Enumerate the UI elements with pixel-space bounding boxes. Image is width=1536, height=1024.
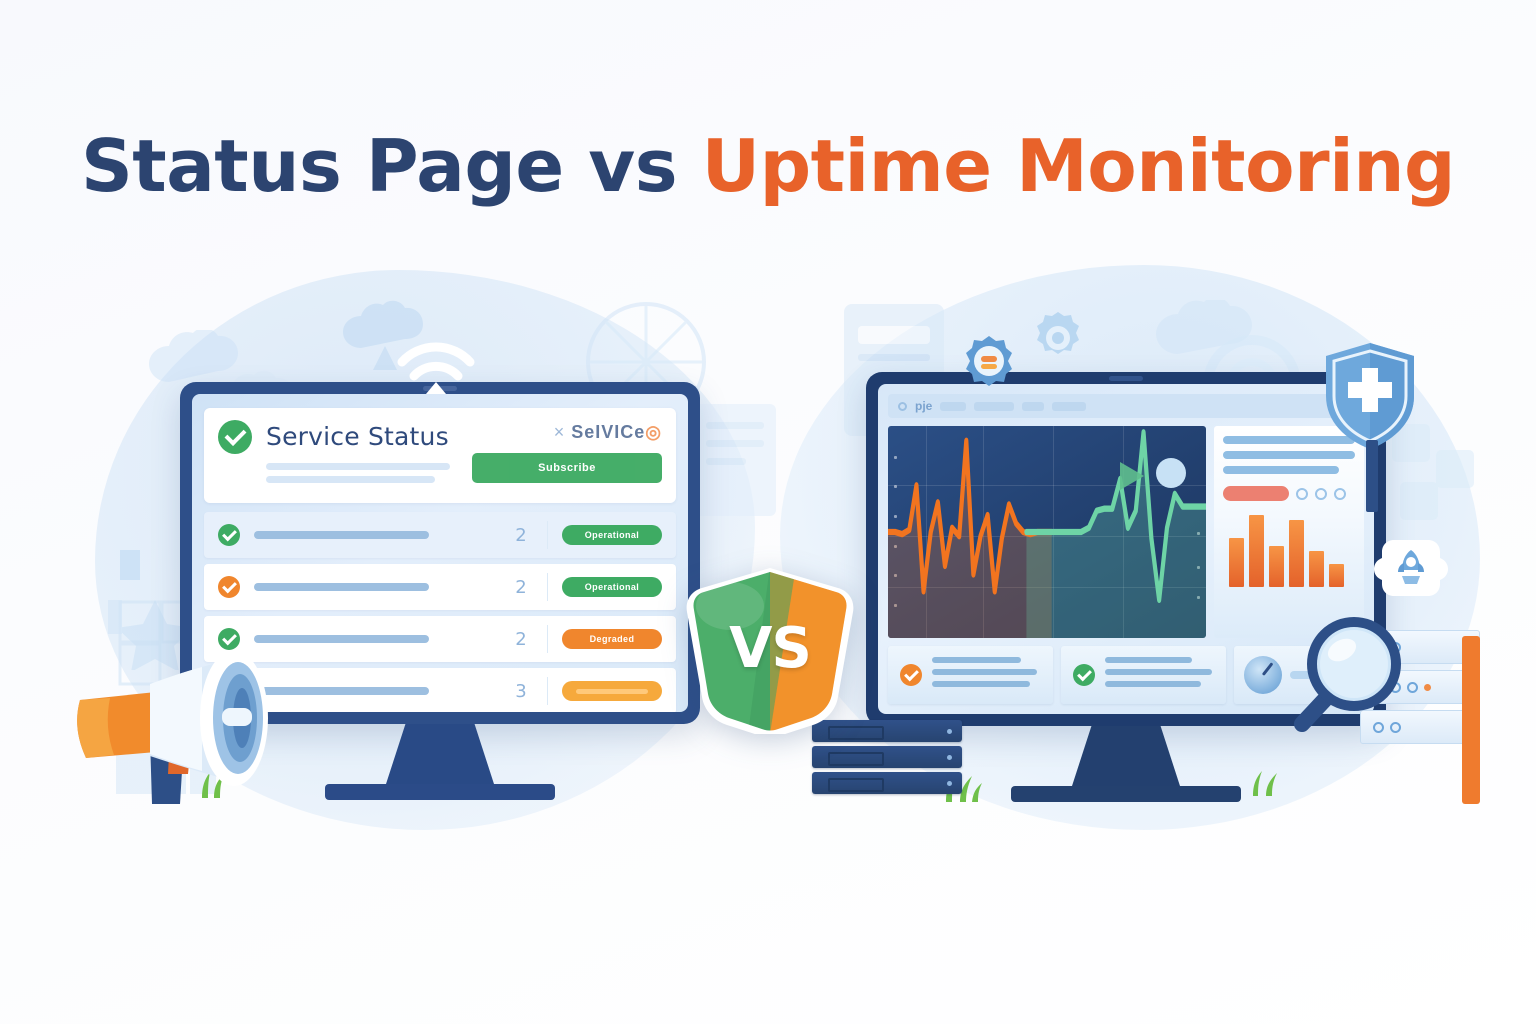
- settings-badge-icon: [962, 334, 1016, 388]
- bar-chart: [1223, 515, 1355, 587]
- check-circle-icon: [218, 576, 240, 598]
- circle-icon: [1296, 488, 1308, 500]
- row-divider: [547, 677, 548, 705]
- monitor-stand-base: [1011, 786, 1241, 802]
- circle-icon: [1315, 488, 1327, 500]
- card-placeholder-lines: [932, 657, 1041, 693]
- monitor-stand-base: [325, 784, 555, 800]
- service-name-placeholder: [254, 583, 429, 591]
- list-item[interactable]: [888, 646, 1053, 704]
- shield-check-icon: [1322, 340, 1418, 452]
- monitor-stand-neck: [1072, 726, 1180, 786]
- row-divider: [547, 625, 548, 653]
- check-circle-icon: [218, 420, 252, 454]
- status-badge: [562, 681, 662, 701]
- row-count: 2: [509, 629, 533, 650]
- wifi-icon: [392, 336, 480, 398]
- row-divider: [547, 521, 548, 549]
- status-badge: Operational: [562, 525, 662, 545]
- subscribe-button[interactable]: Subscribe: [472, 453, 662, 483]
- dashboard-main: [888, 426, 1364, 638]
- topbar-segment: [974, 402, 1014, 411]
- bar: [1289, 520, 1304, 587]
- row-count: 2: [509, 577, 533, 598]
- brand-x-mark: ×: [554, 422, 566, 442]
- play-triangle-icon: [1120, 462, 1144, 490]
- service-name-placeholder: [254, 531, 429, 539]
- grass-decoration: [1248, 768, 1284, 801]
- check-circle-icon: [218, 524, 240, 546]
- status-badge: Degraded: [562, 629, 662, 649]
- page-title-wrap: Status Page vs Uptime Monitoring: [0, 124, 1536, 208]
- row-count: 2: [509, 525, 533, 546]
- page-title-part-2: Uptime Monitoring: [702, 124, 1455, 208]
- monitor-stand-neck: [386, 724, 494, 784]
- brand-logo: ×SeIVICe◎: [472, 422, 662, 443]
- table-row[interactable]: 2 Operational: [204, 512, 676, 558]
- server-unit: [812, 746, 962, 768]
- chart-svg: [888, 426, 1206, 638]
- bar: [1329, 564, 1344, 587]
- side-panel-chip-row: [1223, 486, 1355, 501]
- gear-icon: [1030, 310, 1086, 366]
- row-divider: [547, 573, 548, 601]
- alert-chip: [1223, 486, 1289, 501]
- brand-suffix-icon: ◎: [645, 422, 662, 442]
- gauge-icon: [1244, 656, 1282, 694]
- placeholder-line: [266, 463, 450, 470]
- status-dot-icon: [898, 402, 907, 411]
- dashboard-topbar: pje: [888, 394, 1364, 418]
- service-status-header: Service Status ×SeIVICe◎ Subscribe: [204, 408, 676, 503]
- dashboard-side-panel: [1214, 426, 1364, 638]
- placeholder-lines: [266, 463, 458, 483]
- check-circle-icon: [1073, 664, 1095, 686]
- bar: [1269, 546, 1284, 587]
- page-title: Status Page vs Uptime Monitoring: [0, 124, 1536, 208]
- webcam-dot: [1109, 376, 1143, 381]
- rocket-icon: [1374, 532, 1448, 606]
- service-status-header-right: ×SeIVICe◎ Subscribe: [472, 420, 662, 483]
- topbar-segment: [940, 402, 966, 411]
- uptime-chart: [888, 426, 1206, 638]
- bar: [1249, 515, 1264, 587]
- brand-text: SeIVICe: [571, 422, 645, 442]
- topbar-segment: [1052, 402, 1086, 411]
- check-circle-icon: [900, 664, 922, 686]
- bar: [1229, 538, 1244, 587]
- document-decoration: [690, 400, 780, 525]
- table-row[interactable]: 2 Operational: [204, 564, 676, 610]
- chart-endpoint-dot: [1156, 458, 1186, 488]
- vs-badge-label: VS: [686, 566, 854, 734]
- megaphone-icon: [62, 630, 312, 810]
- server-unit: [812, 772, 962, 794]
- page-title-part-1: Status Page vs: [81, 124, 702, 208]
- list-item[interactable]: [1061, 646, 1226, 704]
- status-badge: Operational: [562, 577, 662, 597]
- magnifier-icon: [1292, 612, 1410, 734]
- service-status-title: Service Status: [266, 422, 458, 451]
- vs-badge: VS: [686, 566, 854, 734]
- shield-pole: [1366, 440, 1378, 512]
- topbar-segment: [1022, 402, 1044, 411]
- illustration-canvas: Status Page vs Uptime Monitoring S: [0, 0, 1536, 1024]
- service-status-header-middle: Service Status: [266, 420, 458, 489]
- bar: [1309, 551, 1324, 587]
- placeholder-line: [266, 476, 435, 483]
- dashboard-label: pje: [915, 399, 932, 413]
- rack-accent-bar: [1462, 636, 1480, 804]
- circle-icon: [1334, 488, 1346, 500]
- row-count: 3: [509, 681, 533, 702]
- card-placeholder-lines: [1105, 657, 1214, 693]
